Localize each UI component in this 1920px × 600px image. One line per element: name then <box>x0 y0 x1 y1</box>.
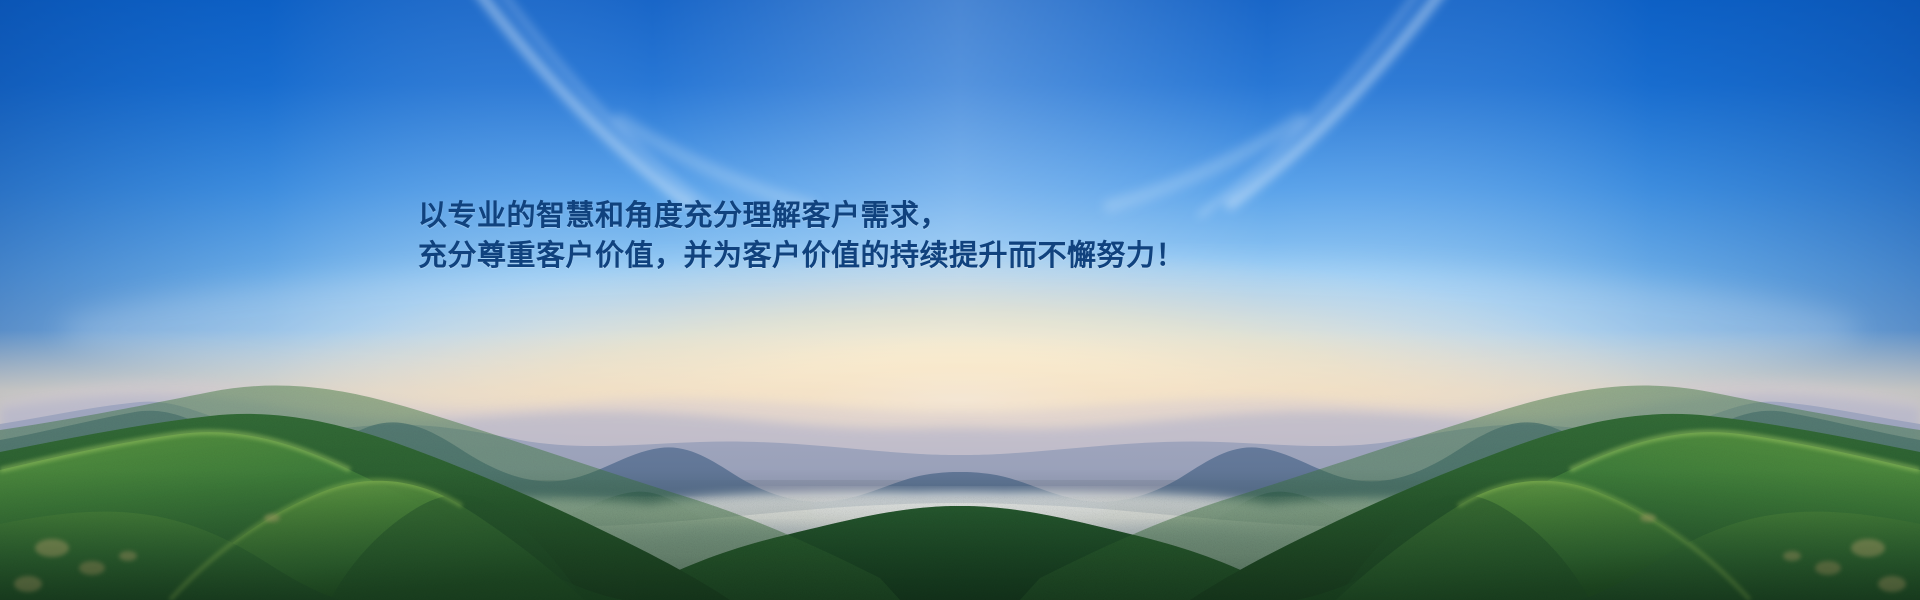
headline-line-2: 充分尊重客户价值，并为客户价值的持续提升而不懈努力！ <box>418 236 1185 276</box>
hero-banner: 以专业的智慧和角度充分理解客户需求， 充分尊重客户价值，并为客户价值的持续提升而… <box>0 0 1920 600</box>
headline-text: 以专业的智慧和角度充分理解客户需求， 充分尊重客户价值，并为客户价值的持续提升而… <box>418 196 1185 276</box>
headline-line-1: 以专业的智慧和角度充分理解客户需求， <box>418 196 1185 236</box>
banner-background-image <box>0 0 1920 600</box>
